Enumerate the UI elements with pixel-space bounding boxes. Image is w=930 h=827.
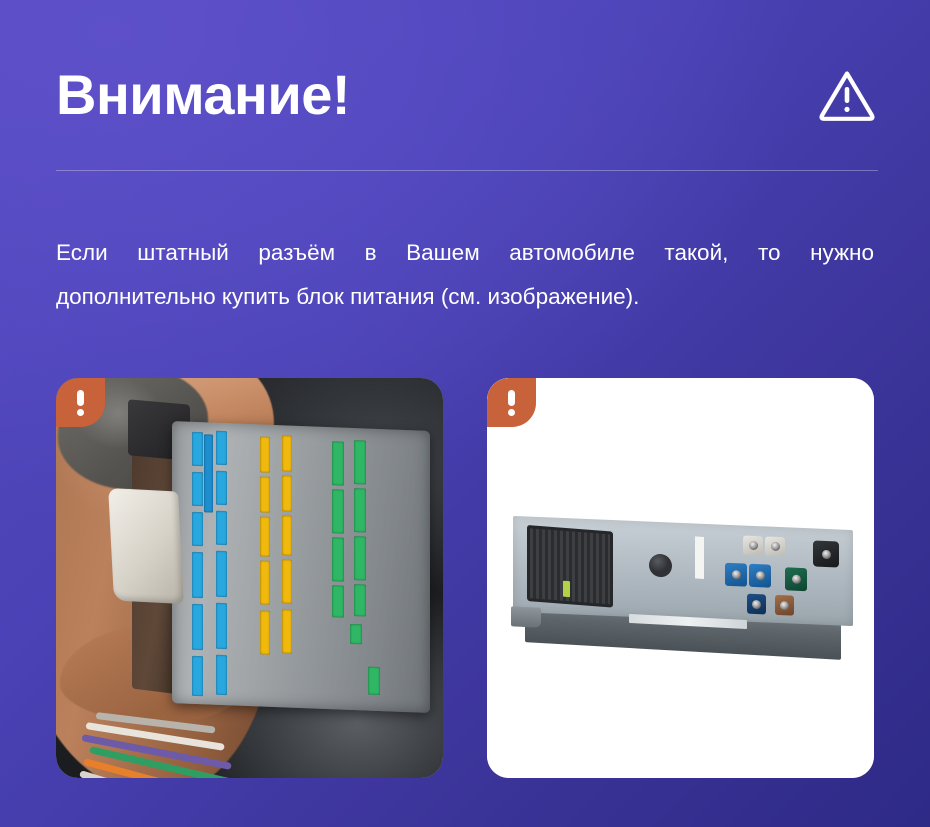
connector-pin-slot: [350, 624, 362, 644]
connector-pin-slot: [354, 536, 366, 580]
connector-pin-slot: [216, 431, 227, 465]
fakra-blue-2: [749, 564, 771, 588]
fakra-white-1: [743, 536, 763, 556]
connector-white-clip: [108, 488, 184, 604]
connector-photo-card[interactable]: [56, 378, 443, 778]
power-supply-photo-card[interactable]: [487, 378, 874, 778]
module-mount-tab: [511, 606, 541, 628]
connector-pin-slot: [282, 515, 292, 555]
banner-header: Внимание!: [56, 52, 878, 138]
module-side-mount: [813, 540, 839, 567]
connector-pin-slot: [332, 441, 344, 485]
exclamation-icon: [508, 390, 515, 416]
connector-pin-slot: [260, 436, 270, 472]
power-supply-photo: [487, 378, 874, 778]
fakra-green: [785, 567, 807, 591]
connector-pin-slot: [332, 537, 344, 581]
attention-banner: Внимание! Если штатный разъём в Вашем ав…: [0, 0, 930, 827]
module-main-connector: [527, 525, 613, 608]
connector-pin-slot: [354, 440, 366, 484]
fakra-blue-1: [725, 563, 747, 587]
connector-pin-slot: [204, 434, 213, 512]
connector-pin-slot: [260, 610, 270, 654]
warning-triangle-icon: [816, 64, 878, 126]
connector-pin-slot: [282, 559, 292, 603]
connector-pin-slot: [216, 511, 227, 545]
connector-pin-slot: [192, 472, 203, 506]
connector-photo: [56, 378, 443, 778]
connector-pin-slot: [282, 435, 292, 471]
connector-body: [172, 421, 430, 713]
connector-pin-slot: [354, 584, 366, 616]
connector-pin-slot: [192, 432, 203, 466]
connector-pin-slot: [332, 489, 344, 533]
connector-pin-slot: [216, 603, 227, 649]
fakra-navy: [747, 594, 766, 615]
exclamation-icon: [77, 390, 84, 416]
module-knob: [649, 554, 672, 578]
connector-pin-slot: [260, 516, 270, 556]
image-card-row: [56, 378, 874, 778]
header-divider: [56, 170, 878, 171]
fakra-white-2: [765, 536, 785, 556]
fakra-brown: [775, 595, 794, 616]
connector-pin-slot: [282, 475, 292, 511]
module-label-sticker: [695, 536, 704, 579]
warning-badge: [56, 378, 105, 427]
connector-pin-slot: [192, 512, 203, 546]
connector-pin-slot: [192, 604, 203, 650]
connector-pin-slot: [192, 552, 203, 598]
connector-pin-slot: [216, 551, 227, 597]
body-line-1: Если штатный разъём в Вашем автомобиле т…: [56, 231, 874, 275]
module-green-tab: [563, 581, 570, 598]
module-face: [513, 516, 853, 626]
connector-pin-slot: [216, 471, 227, 505]
body-line-2: дополнительно купить блок питания (см. и…: [56, 275, 874, 319]
warning-badge: [487, 378, 536, 427]
connector-pin-slot: [260, 560, 270, 604]
connector-pin-slot: [282, 609, 292, 653]
connector-pin-slot: [332, 585, 344, 617]
power-supply-module: [513, 523, 853, 653]
connector-pin-slot: [354, 488, 366, 532]
connector-pin-slot: [368, 667, 380, 695]
wire-bundle: [80, 688, 310, 778]
connector-pin-slot: [260, 476, 270, 512]
page-title: Внимание!: [56, 67, 350, 123]
banner-body-text: Если штатный разъём в Вашем автомобиле т…: [56, 231, 874, 319]
